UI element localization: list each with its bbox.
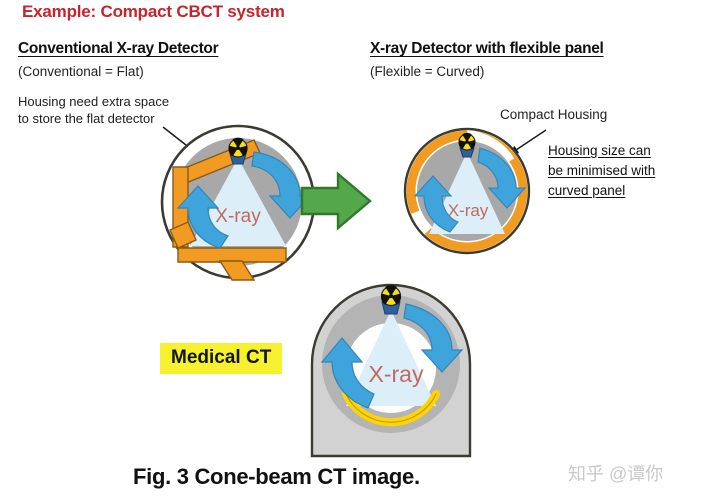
medical-ct-diagram: X-ray	[300, 272, 482, 458]
right-annotation-line-1: Housing size can	[548, 141, 651, 161]
transition-arrow-green	[300, 170, 372, 232]
right-xray-label: X-ray	[448, 201, 489, 220]
medical-ct-label: Medical CT	[160, 343, 282, 374]
left-annotation-line-1: Housing need extra space	[18, 93, 169, 110]
right-panel-heading: X-ray Detector with flexible panel	[370, 40, 604, 58]
slide-canvas: Example: Compact CBCT system Conventiona…	[0, 0, 710, 504]
compact-housing-callout: Compact Housing	[500, 107, 607, 122]
xray-source-assembly	[381, 285, 401, 314]
bottom-xray-label: X-ray	[369, 361, 424, 387]
right-panel-subheading: (Flexible = Curved)	[370, 64, 484, 79]
right-annotation-line-3: curved panel	[548, 181, 625, 201]
left-xray-label: X-ray	[215, 206, 261, 227]
slide-title: Example: Compact CBCT system	[22, 2, 285, 22]
left-panel-heading: Conventional X-ray Detector	[18, 40, 218, 58]
left-annotation-line-2: to store the flat detector	[18, 110, 155, 127]
figure-caption: Fig. 3 Cone-beam CT image.	[133, 464, 420, 490]
right-annotation-line-2: be minimised with	[548, 161, 655, 181]
flexible-cbct-diagram: X-ray	[402, 126, 532, 256]
watermark: 知乎 @谭你	[568, 460, 663, 486]
conventional-cbct-diagram: X-ray	[158, 122, 318, 282]
xray-source-assembly	[229, 138, 248, 164]
left-panel-subheading: (Conventional = Flat)	[18, 64, 144, 79]
